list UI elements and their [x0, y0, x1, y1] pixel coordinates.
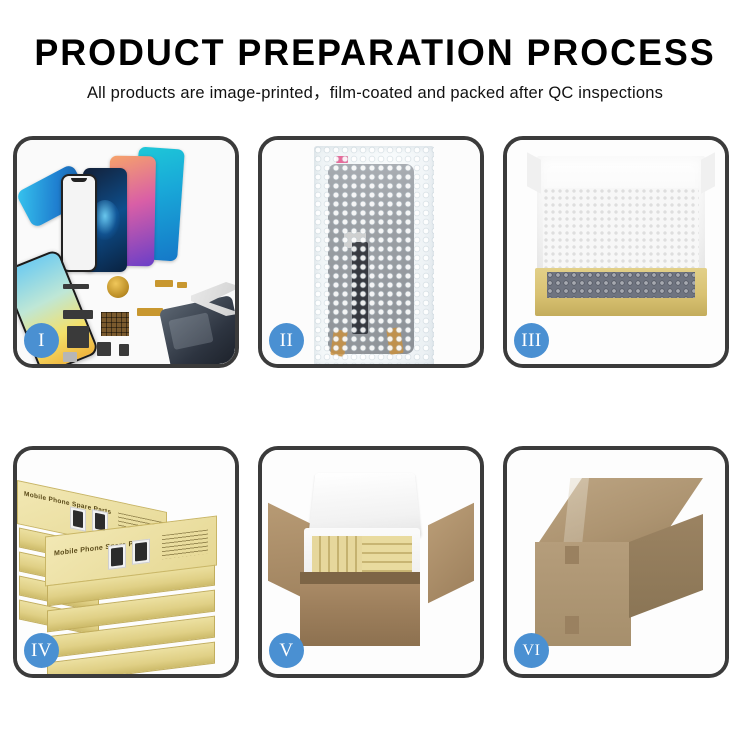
flex-connector-icon — [155, 280, 173, 287]
bubble-wrap-bag-icon — [314, 146, 434, 364]
product-preparation-infographic: PRODUCT PREPARATION PROCESS All products… — [0, 0, 750, 750]
white-foam-sheet-icon — [543, 188, 699, 272]
sim-tray-icon — [63, 352, 77, 362]
speaker-icon — [97, 342, 111, 356]
page-title: PRODUCT PREPARATION PROCESS — [11, 34, 739, 71]
step-badge-2: II — [269, 323, 304, 358]
phone-backplate-icon — [159, 295, 235, 364]
grey-bubble-wrap-icon — [547, 272, 695, 298]
step-panel-3: III — [503, 136, 729, 368]
step-panel-2: II — [258, 136, 484, 368]
phone-notch-icon — [71, 178, 87, 182]
box-phone-image-icon — [132, 539, 150, 565]
step-panel-6: VI — [503, 446, 729, 678]
phone-screen-white-icon — [61, 174, 97, 272]
ic-chip-icon — [101, 312, 129, 336]
box-phone-image-icon — [108, 544, 126, 570]
earpiece-mesh-icon — [63, 284, 89, 289]
carton-body-icon — [300, 584, 420, 646]
page-subtitle: All products are image-printed，film-coat… — [0, 85, 750, 102]
yellow-box-tray-icon — [535, 268, 707, 316]
carton-seam-bottom-icon — [565, 616, 579, 634]
spare-parts-group — [63, 276, 235, 364]
flex-strip-icon — [63, 310, 93, 319]
step-badge-5: V — [269, 633, 304, 668]
step-badge-6: VI — [514, 633, 549, 668]
step-panel-1: I — [13, 136, 239, 368]
step-badge-3: III — [514, 323, 549, 358]
process-steps-grid: I II — [13, 136, 737, 678]
carton-seam-top-icon — [565, 546, 579, 564]
small-gold-part-icon — [177, 282, 187, 288]
button-part-icon — [119, 344, 129, 356]
camera-module-icon — [67, 326, 89, 348]
box-phone-image-icon — [70, 506, 86, 531]
box-spec-lines-icon — [162, 530, 208, 560]
vibration-motor-icon — [107, 276, 129, 298]
step-badge-4: IV — [24, 633, 59, 668]
step-badge-1: I — [24, 323, 59, 358]
header: PRODUCT PREPARATION PROCESS All products… — [0, 0, 750, 102]
bubble-texture-icon — [314, 146, 434, 364]
carton-front-face-icon — [535, 542, 631, 646]
step-panel-4: Mobile Phone Spare Parts Mobile Phone Sp… — [13, 446, 239, 678]
step-panel-5: V — [258, 446, 484, 678]
